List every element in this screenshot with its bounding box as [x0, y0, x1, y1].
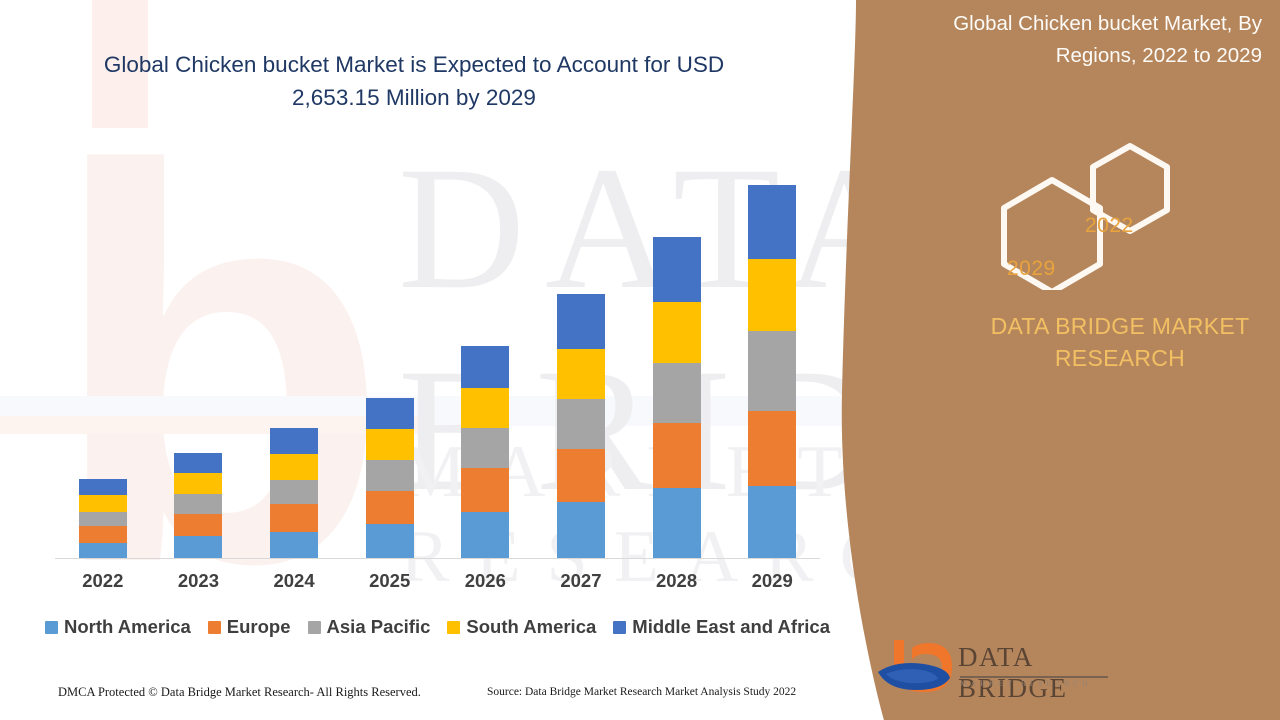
bar-segment[interactable]	[79, 543, 127, 559]
footer-copyright: DMCA Protected © Data Bridge Market Rese…	[58, 685, 421, 700]
bar-segment[interactable]	[174, 453, 222, 473]
legend-item[interactable]: Europe	[208, 616, 291, 638]
bar-segment[interactable]	[653, 488, 701, 559]
bar-segment[interactable]	[270, 454, 318, 480]
x-axis-label-2023: 2023	[153, 570, 243, 592]
x-axis-label-2029: 2029	[727, 570, 817, 592]
legend-item[interactable]: North America	[45, 616, 191, 638]
chart-legend: North AmericaEuropeAsia PacificSouth Ame…	[55, 616, 820, 638]
legend-label: Europe	[227, 616, 291, 638]
bar-segment[interactable]	[748, 259, 796, 331]
legend-item[interactable]: South America	[447, 616, 596, 638]
bar-column-2026[interactable]	[461, 346, 509, 559]
bar-segment[interactable]	[270, 428, 318, 454]
bar-segment[interactable]	[366, 524, 414, 559]
bar-segment[interactable]	[174, 514, 222, 536]
logo-divider	[960, 676, 1108, 678]
legend-item[interactable]: Asia Pacific	[308, 616, 431, 638]
bar-segment[interactable]	[557, 349, 605, 399]
bar-segment[interactable]	[557, 294, 605, 349]
bar-segment[interactable]	[461, 468, 509, 512]
bar-segment[interactable]	[270, 532, 318, 559]
bar-segment[interactable]	[270, 480, 318, 504]
x-axis-label-2027: 2027	[536, 570, 626, 592]
legend-swatch-icon	[447, 621, 460, 634]
x-axis-label-2028: 2028	[632, 570, 722, 592]
bar-column-2028[interactable]	[653, 237, 701, 559]
bar-column-2023[interactable]	[174, 453, 222, 559]
bar-segment[interactable]	[174, 536, 222, 559]
legend-swatch-icon	[613, 621, 626, 634]
bar-column-2027[interactable]	[557, 294, 605, 559]
bar-segment[interactable]	[748, 331, 796, 411]
bar-segment[interactable]	[748, 411, 796, 486]
data-bridge-logo: DATA BRIDGE MARKET RESEARCH	[872, 636, 1112, 700]
bar-segment[interactable]	[79, 479, 127, 495]
legend-swatch-icon	[45, 621, 58, 634]
bar-segment[interactable]	[557, 502, 605, 559]
bar-segment[interactable]	[366, 491, 414, 524]
panel-title: Global Chicken bucket Market, By Regions…	[890, 8, 1262, 72]
bar-segment[interactable]	[174, 494, 222, 514]
hexagon-2022-label: 2022	[1085, 214, 1134, 238]
bar-column-2024[interactable]	[270, 428, 318, 559]
x-axis-label-2026: 2026	[440, 570, 530, 592]
legend-label: South America	[466, 616, 596, 638]
x-axis-line	[55, 558, 820, 559]
x-axis-label-2022: 2022	[58, 570, 148, 592]
bar-segment[interactable]	[79, 495, 127, 512]
bar-segment[interactable]	[79, 526, 127, 543]
bar-segment[interactable]	[174, 473, 222, 494]
bar-segment[interactable]	[366, 429, 414, 460]
bar-segment[interactable]	[653, 302, 701, 363]
legend-swatch-icon	[208, 621, 221, 634]
chart-title: Global Chicken bucket Market is Expected…	[64, 48, 764, 114]
bar-column-2025[interactable]	[366, 398, 414, 559]
hexagon-badges: 2022 2029	[975, 140, 1190, 290]
bar-column-2022[interactable]	[79, 479, 127, 559]
bar-column-2029[interactable]	[748, 185, 796, 559]
bar-segment[interactable]	[557, 399, 605, 449]
bar-segment[interactable]	[653, 363, 701, 423]
x-axis-label-2025: 2025	[345, 570, 435, 592]
bar-segment[interactable]	[461, 428, 509, 468]
bar-segment[interactable]	[461, 346, 509, 388]
x-axis-label-2024: 2024	[249, 570, 339, 592]
logo-wordmark: DATA BRIDGE	[958, 642, 1112, 704]
bar-segment[interactable]	[79, 512, 127, 526]
legend-swatch-icon	[308, 621, 321, 634]
footer-source: Source: Data Bridge Market Research Mark…	[487, 686, 796, 698]
logo-tagline: MARKET RESEARCH	[960, 679, 1091, 688]
bar-segment[interactable]	[653, 423, 701, 488]
legend-label: Asia Pacific	[327, 616, 431, 638]
hexagon-2029-label: 2029	[1007, 257, 1056, 281]
bar-segment[interactable]	[748, 486, 796, 559]
logo-mark-icon	[872, 636, 958, 696]
bar-segment[interactable]	[366, 460, 414, 491]
bar-segment[interactable]	[557, 449, 605, 502]
legend-label: North America	[64, 616, 191, 638]
bar-segment[interactable]	[461, 388, 509, 428]
bar-segment[interactable]	[748, 185, 796, 259]
legend-item[interactable]: Middle East and Africa	[613, 616, 830, 638]
bar-segment[interactable]	[366, 398, 414, 429]
bar-segment[interactable]	[653, 237, 701, 302]
chart-plot-area	[55, 150, 820, 559]
bar-segment[interactable]	[270, 504, 318, 532]
bar-segment[interactable]	[461, 512, 509, 559]
infographic-canvas: b DATA BRIDGE MARKET RESEARCH Global Chi…	[0, 0, 1280, 720]
legend-label: Middle East and Africa	[632, 616, 830, 638]
brand-name-text: DATA BRIDGE MARKET RESEARCH	[960, 310, 1280, 374]
